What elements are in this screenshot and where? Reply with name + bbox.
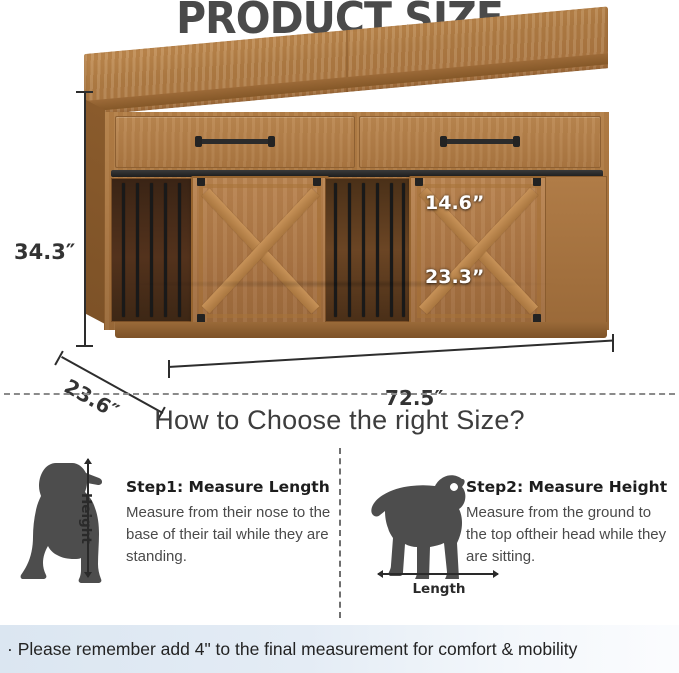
- height-tick-top: [76, 91, 93, 93]
- door-hanger-icon: [533, 176, 541, 186]
- dog-crate-furniture: [84, 54, 624, 364]
- step-2-heading: Step2: Measure Height: [466, 478, 674, 496]
- cabinet-base: [115, 322, 607, 338]
- drawer-handle-icon: [197, 139, 273, 144]
- crate-bars-left: [111, 178, 193, 322]
- step-1-heading: Step1: Measure Length: [126, 478, 341, 496]
- width-tick-left: [168, 360, 170, 378]
- section-divider-top: [4, 393, 675, 395]
- inner-height-label: 23.3”: [425, 266, 484, 288]
- inner-width-label: 14.6”: [425, 192, 484, 214]
- door-hanger-icon: [415, 176, 423, 186]
- height-dimension-line: [84, 92, 86, 347]
- drawer-right: [359, 116, 601, 168]
- sliding-barn-door-left[interactable]: [191, 176, 329, 326]
- cabinet-left-side-panel: [84, 99, 105, 324]
- cabinet-right-panel: [545, 176, 607, 324]
- height-dimension-label: 34.3″: [14, 240, 75, 264]
- footer-note-banner: · Please remember add 4" to the final me…: [0, 625, 679, 673]
- step-1-text: Step1: Measure Length Measure from their…: [126, 478, 341, 568]
- step-1-body: Measure from their nose to the base of t…: [126, 502, 341, 568]
- footer-note-text: · Please remember add 4" to the final me…: [0, 639, 577, 660]
- door-hanger-icon: [313, 176, 321, 186]
- door-hanger-icon: [197, 176, 205, 186]
- height-tick-bottom: [76, 345, 93, 347]
- product-illustration: 14.6” 23.3” 34.3″ 23.6″ 72.5″: [0, 44, 679, 394]
- crate-bars-center: [325, 178, 411, 322]
- width-tick-right: [612, 334, 614, 352]
- step-2-body: Measure from the ground to the top ofthe…: [466, 502, 674, 568]
- step-2-text: Step2: Measure Height Measure from the g…: [466, 478, 674, 568]
- drawer-left: [115, 116, 355, 168]
- height-measure-label: Height: [78, 493, 94, 544]
- cabinet-lower-section: [111, 178, 603, 320]
- length-measure-label: Length: [384, 581, 494, 597]
- product-size-infographic: PRODUCT SIZE: [0, 0, 679, 673]
- drawer-handle-icon: [442, 139, 518, 144]
- furniture-shadow: [114, 280, 564, 288]
- length-measure-arrow: [378, 573, 498, 575]
- how-to-heading: How to Choose the right Size?: [0, 405, 679, 436]
- cabinet-front-face: [104, 112, 609, 330]
